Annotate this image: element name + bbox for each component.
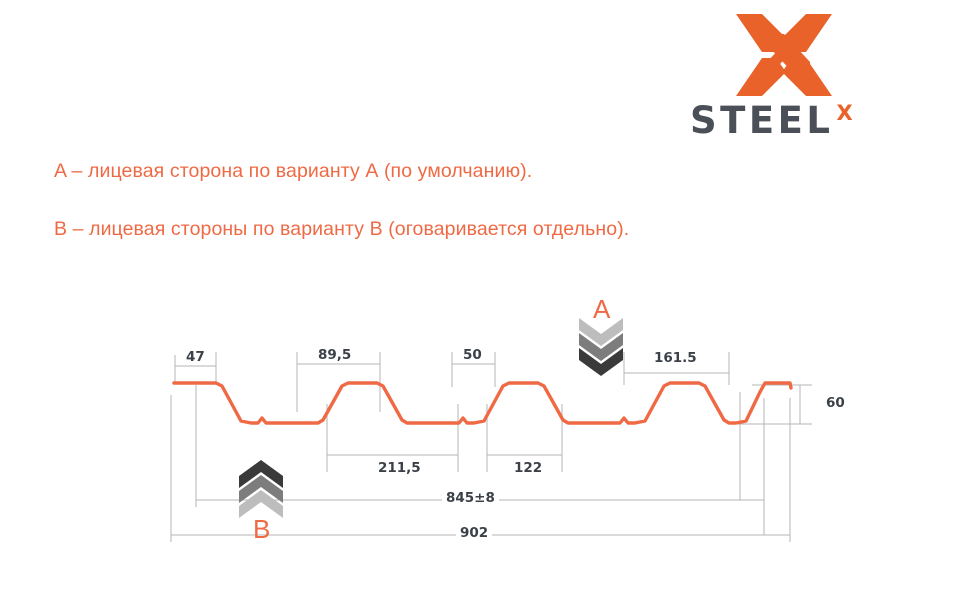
profile-technical-drawing bbox=[0, 0, 970, 597]
diagram-page: STEEL X A – лицевая сторона по варианту … bbox=[0, 0, 970, 597]
marker-label-b: B bbox=[253, 516, 270, 542]
marker-a-chevrons bbox=[579, 318, 623, 376]
marker-label-a: A bbox=[593, 296, 610, 322]
dim-label-overall-width-902: 902 bbox=[456, 527, 492, 541]
dim-label-effective-width-845: 845±8 bbox=[442, 492, 499, 506]
marker-b-chevrons bbox=[239, 460, 283, 518]
dim-label-profile-height-60: 60 bbox=[822, 397, 849, 411]
sheet-profile-outline bbox=[174, 383, 791, 423]
dim-label-valley-span-211-5: 211,5 bbox=[374, 462, 425, 476]
dim-label-pitch-161-5: 161.5 bbox=[650, 352, 701, 366]
dim-label-valley-span-122: 122 bbox=[510, 462, 546, 476]
dim-label-rib-base-width-89-5: 89,5 bbox=[314, 349, 355, 363]
dim-label-rib-top-width-50: 50 bbox=[459, 349, 486, 363]
dim-label-flange-width-47: 47 bbox=[182, 351, 209, 365]
